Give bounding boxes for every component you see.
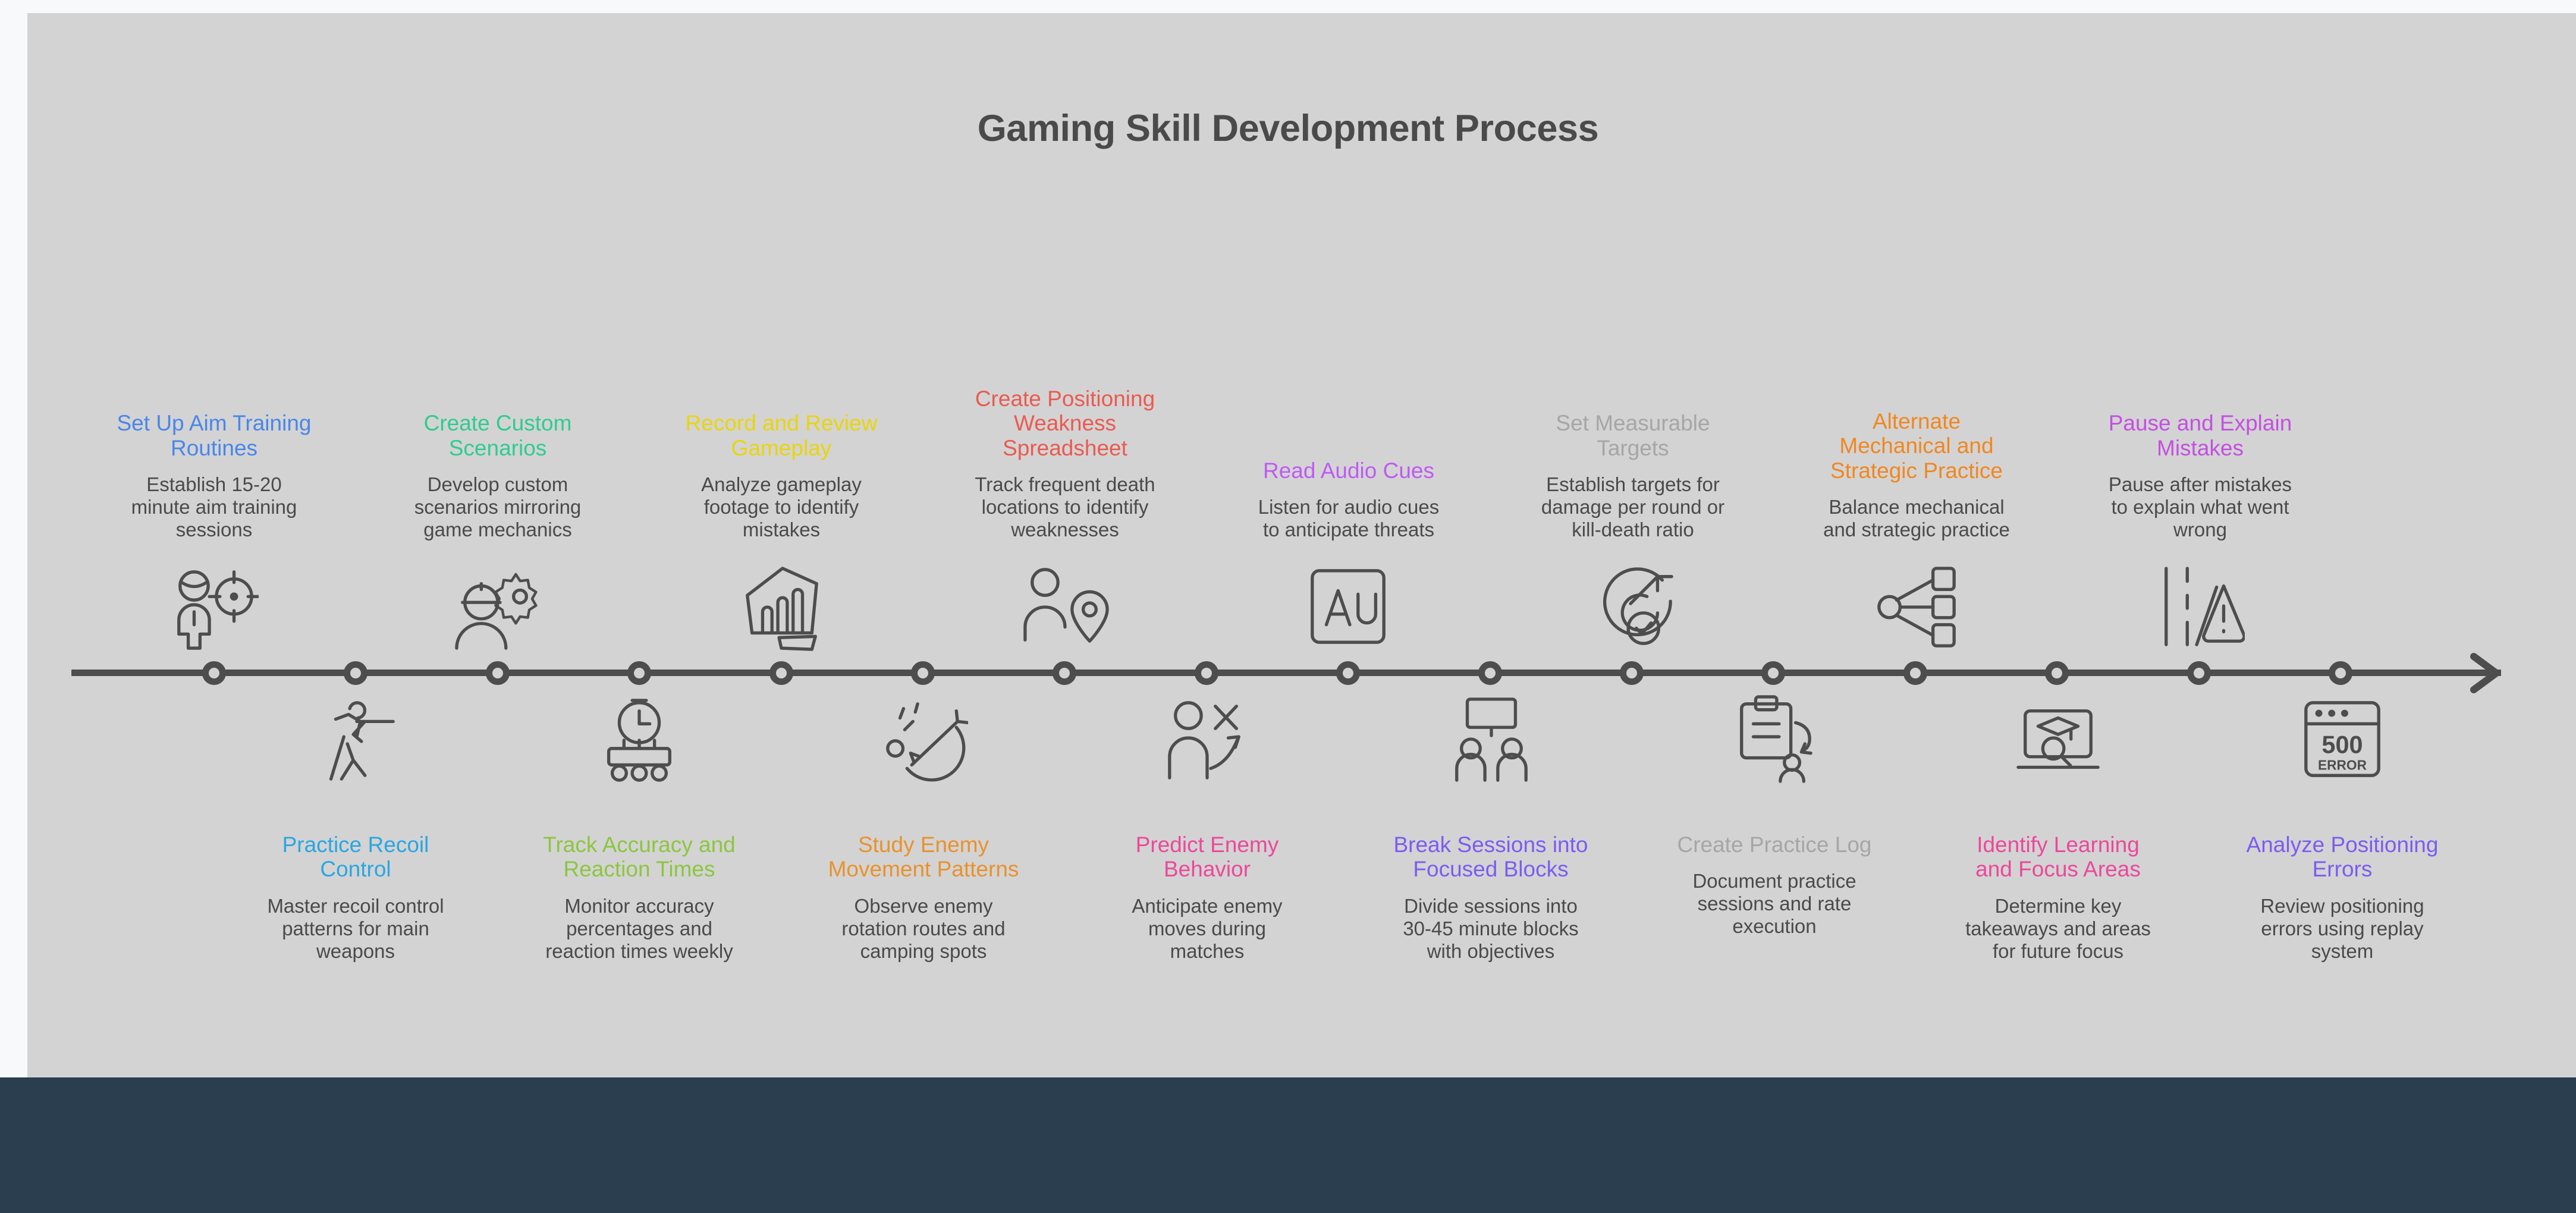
error-500-browser-icon: 500 ERROR [2298, 695, 2387, 784]
fist-bar-chart-icon [737, 562, 826, 652]
step-description: Analyze gameplay footage to identify mis… [683, 473, 879, 541]
step-title: Create Custom Scenarios [400, 411, 596, 460]
timeline-axis-line [71, 670, 2501, 676]
share-nodes-icon [1872, 562, 1961, 652]
timeline-arrow-icon [2468, 649, 2505, 697]
au-badge-icon [1304, 562, 1393, 652]
archer-bow-icon [879, 695, 968, 784]
timeline-dot [486, 661, 510, 685]
timeline-step[interactable]: Analyze Positioning ErrorsReview positio… [2244, 832, 2440, 1082]
timeline-step[interactable]: Create Positioning Weakness SpreadsheetT… [967, 178, 1163, 541]
timeline-step[interactable]: Create Practice LogDocument practice ses… [1676, 832, 1873, 1082]
step-title: Create Practice Log [1676, 832, 1873, 857]
step-description: Develop custom scenarios mirroring game … [400, 473, 596, 541]
step-title: Analyze Positioning Errors [2244, 832, 2440, 882]
timeline-step[interactable]: Study Enemy Movement PatternsObserve ene… [825, 832, 1022, 1082]
step-description: Track frequent death locations to identi… [967, 473, 1163, 541]
timeline-step[interactable]: Read Audio CuesListen for audio cues to … [1251, 178, 1447, 541]
timeline-step[interactable]: Set Up Aim Training RoutinesEstablish 15… [116, 178, 312, 541]
classroom-whiteboard-icon [1446, 695, 1535, 784]
infographic-canvas: Gaming Skill Development Process [0, 0, 2576, 1213]
timeline-step[interactable]: Create Custom ScenariosDevelop custom sc… [400, 178, 596, 541]
timeline-dot [1478, 661, 1502, 685]
step-title: Create Positioning Weakness Spreadsheet [967, 386, 1163, 460]
step-title: Identify Learning and Focus Areas [1960, 832, 2156, 882]
step-description: Master recoil control patterns for main … [257, 895, 454, 963]
svg-text:500: 500 [2321, 731, 2363, 759]
timeline-step[interactable]: Predict Enemy BehaviorAnticipate enemy m… [1109, 832, 1305, 1082]
timeline-step[interactable]: Practice Recoil ControlMaster recoil con… [257, 832, 454, 1082]
person-target-arrow-icon [1163, 695, 1252, 784]
timeline-dot [627, 661, 651, 685]
svg-text:ERROR: ERROR [2318, 757, 2367, 772]
timeline-dot [911, 661, 935, 685]
step-description: Observe enemy rotation routes and campin… [825, 895, 1022, 963]
step-description: Listen for audio cues to anticipate thre… [1251, 496, 1447, 541]
footer-bar [0, 1077, 2576, 1213]
step-description: Divide sessions into 30-45 minute blocks… [1393, 895, 1589, 963]
shooter-aiming-icon [311, 695, 400, 784]
step-title: Study Enemy Movement Patterns [825, 832, 1022, 882]
timeline-dot [1195, 661, 1218, 685]
step-description: Review positioning errors using replay s… [2244, 895, 2440, 963]
step-description: Anticipate enemy moves during matches [1109, 895, 1305, 963]
road-warning-icon [2156, 562, 2245, 652]
timeline-step[interactable]: Pause and Explain MistakesPause after mi… [2102, 178, 2298, 541]
timeline-dot [2045, 661, 2069, 685]
timeline-step[interactable]: Record and Review GameplayAnalyze gamepl… [683, 178, 879, 541]
step-description: Monitor accuracy percentages and reactio… [541, 895, 737, 963]
step-title: Alternate Mechanical and Strategic Pract… [1818, 409, 2015, 483]
step-title: Record and Review Gameplay [683, 411, 879, 460]
timeline-dot [1620, 661, 1644, 685]
target-check-icon [1588, 562, 1677, 652]
stopwatch-conveyor-icon [595, 695, 684, 784]
timeline-dot [2187, 661, 2211, 685]
timeline-step[interactable]: Set Measurable TargetsEstablish targets … [1535, 178, 1731, 541]
timeline-step[interactable]: Track Accuracy and Reaction TimesMonitor… [541, 832, 737, 1082]
timeline-step[interactable]: Identify Learning and Focus AreasDetermi… [1960, 832, 2156, 1082]
person-location-pin-icon [1020, 562, 1110, 652]
step-title: Track Accuracy and Reaction Times [541, 832, 737, 882]
step-description: Determine key takeaways and areas for fu… [1960, 895, 2156, 963]
timeline-dot [202, 661, 226, 685]
step-description: Establish 15-20 minute aim training sess… [116, 473, 312, 541]
step-title: Read Audio Cues [1251, 458, 1447, 483]
step-title: Pause and Explain Mistakes [2102, 411, 2298, 460]
person-gear-icon [453, 562, 542, 652]
step-title: Practice Recoil Control [257, 832, 454, 882]
step-description: Pause after mistakes to explain what wen… [2102, 473, 2298, 541]
clipboard-person-icon [1730, 695, 1819, 784]
step-description: Document practice sessions and rate exec… [1676, 870, 1873, 938]
timeline-dot [2329, 661, 2352, 685]
step-description: Balance mechanical and strategic practic… [1818, 496, 2015, 541]
timeline-step[interactable]: Break Sessions into Focused BlocksDivide… [1393, 832, 1589, 1082]
step-title: Set Up Aim Training Routines [116, 411, 312, 460]
timeline-dot [769, 661, 793, 685]
step-title: Break Sessions into Focused Blocks [1393, 832, 1589, 882]
timeline-dot [1903, 661, 1927, 685]
timeline-step[interactable]: Alternate Mechanical and Strategic Pract… [1818, 178, 2015, 541]
step-description: Establish targets for damage per round o… [1535, 473, 1731, 541]
step-title: Predict Enemy Behavior [1109, 832, 1305, 882]
step-title: Set Measurable Targets [1535, 411, 1731, 460]
laptop-graduation-search-icon [2013, 695, 2103, 784]
person-crosshair-icon [169, 562, 259, 652]
page-title: Gaming Skill Development Process [0, 107, 2576, 150]
timeline-dot [1336, 661, 1360, 685]
